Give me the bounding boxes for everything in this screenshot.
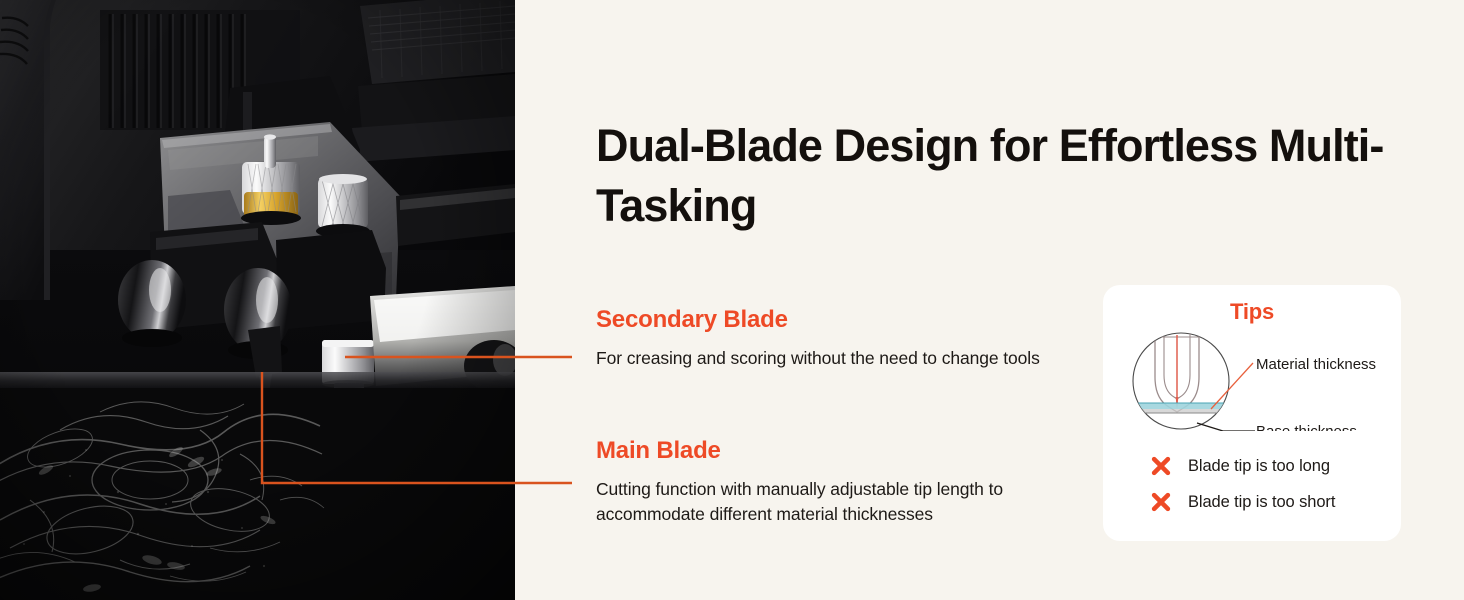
base-layer xyxy=(1121,409,1247,413)
x-mark-icon xyxy=(1150,455,1172,477)
product-feature-banner: Dual-Blade Design for Effortless Multi-T… xyxy=(0,0,1464,600)
product-photo xyxy=(0,0,515,600)
label-material-thickness: Material thickness xyxy=(1256,356,1376,373)
magnifier-circle xyxy=(1133,333,1229,429)
tip-label: Blade tip is too long xyxy=(1188,458,1330,475)
list-item: Blade tip is too short xyxy=(1103,484,1401,520)
tips-card-title: Tips xyxy=(1103,299,1401,325)
tips-card: Tips xyxy=(1103,285,1401,541)
page-title: Dual-Blade Design for Effortless Multi-T… xyxy=(596,116,1386,236)
label-base-thickness: Base thickness xyxy=(1256,423,1357,431)
tips-list: Blade tip is too long Blade tip is too s… xyxy=(1103,448,1401,520)
leader-base-thickness xyxy=(1197,423,1255,431)
callout-body-secondary-blade: For creasing and scoring without the nee… xyxy=(596,346,1066,371)
callout-secondary-blade: Secondary Blade For creasing and scoring… xyxy=(596,305,1066,371)
callout-title-secondary-blade: Secondary Blade xyxy=(596,305,1066,335)
callout-body-main-blade: Cutting function with manually adjustabl… xyxy=(596,477,1066,528)
list-item: Blade tip is too long xyxy=(1103,448,1401,484)
blade-depth-diagram: Material thickness Base thickness xyxy=(1115,331,1391,431)
callout-main-blade: Main Blade Cutting function with manuall… xyxy=(596,436,1066,528)
tip-label: Blade tip is too short xyxy=(1188,494,1335,511)
callout-title-main-blade: Main Blade xyxy=(596,436,1066,466)
x-mark-icon xyxy=(1150,491,1172,513)
